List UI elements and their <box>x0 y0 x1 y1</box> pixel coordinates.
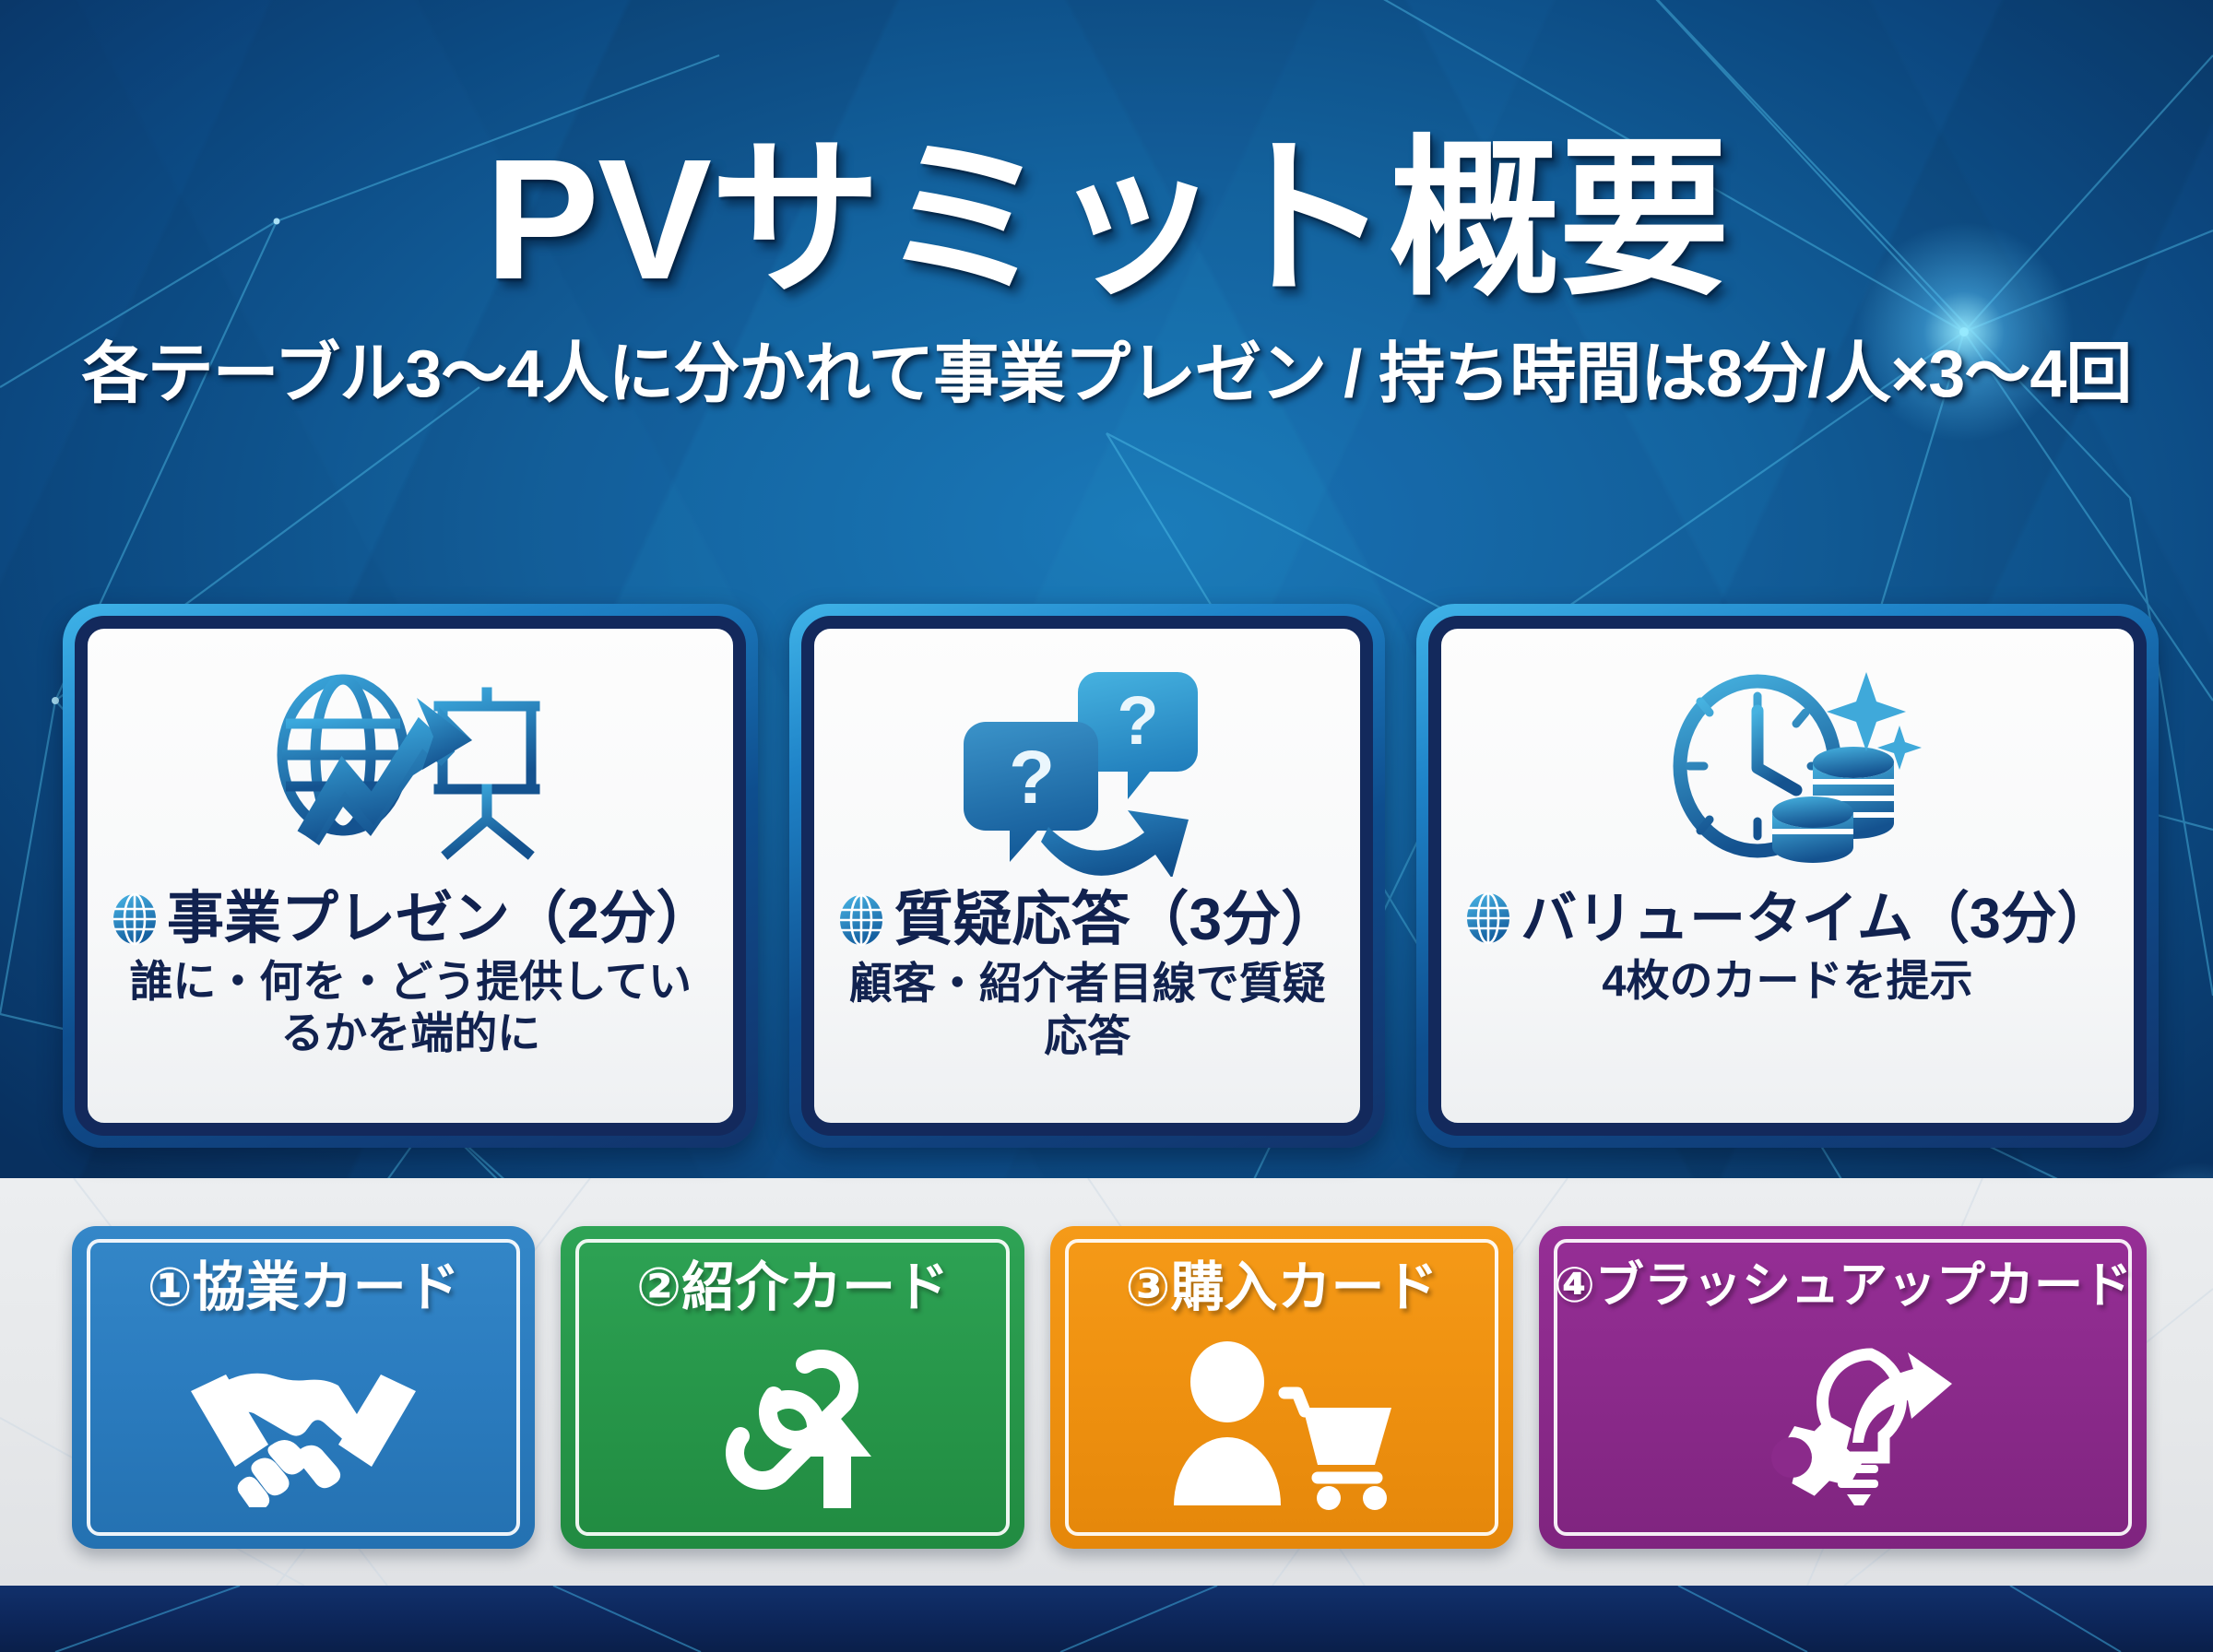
slide-header: PVサミット概要 各テーブル3〜4人に分かれて事業プレゼン / 持ち時間は8分/… <box>0 0 2213 407</box>
value-card-brushup[interactable]: ④ブラッシュアップカード <box>1539 1226 2147 1549</box>
footer-network-lines <box>0 1586 2213 1652</box>
page-subtitle: 各テーブル3〜4人に分かれて事業プレゼン / 持ち時間は8分/人×3〜4回 <box>0 341 2213 407</box>
segment-card-body: バリュータイム（3分） 4枚のカードを提示 <box>1428 616 2147 1136</box>
segment-description: 顧客・紹介者目線で質疑応答 <box>834 958 1340 1062</box>
segment-title: 事業プレゼン（2分） <box>108 889 713 949</box>
chain-link-arrow-up-icon <box>575 1315 1009 1534</box>
svg-text:?: ? <box>1009 736 1055 820</box>
segment-card-body: 事業プレゼン（2分） 誰に・何を・どう提供しているかを端的に <box>75 616 746 1136</box>
value-card-label: ④ブラッシュアップカード <box>1554 1261 2132 1310</box>
question-speech-bubbles-icon: ? ? <box>949 651 1225 881</box>
svg-text:?: ? <box>1118 682 1159 759</box>
value-card-referral[interactable]: ②紹介カード <box>561 1226 1024 1549</box>
segment-title-text: バリュータイム（3分） <box>1521 889 2113 948</box>
value-card-label: ③購入カード <box>1125 1261 1438 1315</box>
segment-card-valuetime[interactable]: バリュータイム（3分） 4枚のカードを提示 <box>1416 604 2159 1148</box>
segment-title-text: 質疑応答（3分） <box>893 889 1340 950</box>
segment-title: バリュータイム（3分） <box>1462 889 2113 948</box>
segment-description: 誰に・何を・どう提供しているかを端的に <box>108 956 713 1060</box>
globe-icon <box>1462 891 1515 945</box>
gear-lightbulb-arrow-icon <box>1554 1310 2132 1534</box>
segment-title: 質疑応答（3分） <box>834 889 1340 950</box>
handshake-icon <box>87 1315 520 1534</box>
clock-coins-sparkle-icon <box>1649 651 1925 881</box>
value-card-label: ①協業カード <box>148 1261 460 1315</box>
value-card-label: ②紹介カード <box>636 1261 949 1315</box>
footer-strip <box>0 1586 2213 1652</box>
segment-title-text: 事業プレゼン（2分） <box>167 889 713 949</box>
segment-card-list: 事業プレゼン（2分） 誰に・何を・どう提供しているかを端的に <box>63 604 2156 1148</box>
globe-icon <box>834 893 888 947</box>
value-card-collaboration[interactable]: ①協業カード <box>72 1226 535 1549</box>
segment-card-presentation[interactable]: 事業プレゼン（2分） 誰に・何を・どう提供しているかを端的に <box>63 604 758 1148</box>
value-card-list: ①協業カード ②紹介カード <box>72 1226 2147 1549</box>
slide-root: PVサミット概要 各テーブル3〜4人に分かれて事業プレゼン / 持ち時間は8分/… <box>0 0 2213 1652</box>
presentation-chart-globe-icon <box>258 651 562 881</box>
globe-icon <box>108 892 161 946</box>
value-card-purchase[interactable]: ③購入カード <box>1050 1226 1513 1549</box>
page-title: PVサミット概要 <box>0 135 2213 306</box>
segment-description: 4枚のカードを提示 <box>1602 955 1972 1007</box>
segment-card-qa[interactable]: ? ? <box>789 604 1385 1148</box>
person-shopping-cart-icon <box>1065 1315 1498 1534</box>
segment-card-body: ? ? <box>801 616 1373 1136</box>
